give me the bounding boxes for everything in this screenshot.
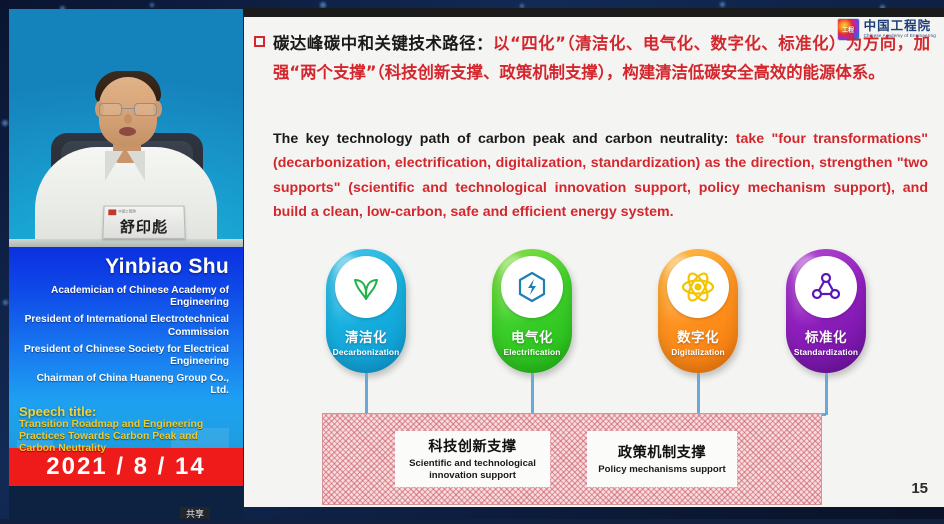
- nameplate-logo-icon: [108, 209, 116, 215]
- desk-nameplate: 中国工程院 舒印彪: [102, 206, 185, 239]
- shirt-collar-right: [127, 151, 145, 181]
- pill-icon-disc: [501, 256, 563, 318]
- speaker-titles: Academician of Chinese Academy of Engine…: [9, 285, 243, 398]
- leaf-icon: [349, 270, 383, 304]
- pill-icon-disc: [335, 256, 397, 318]
- support-label-cn: 政策机制支撑: [618, 442, 706, 462]
- screen: 中国工程院 舒印彪 Yinbiao Shu Academician of Chi…: [0, 0, 944, 524]
- backdrop-speck: [150, 3, 154, 7]
- bolt-hexagon-icon: [515, 270, 549, 304]
- english-paragraph: The key technology path of carbon peak a…: [273, 127, 928, 225]
- network-nodes-icon: [809, 270, 843, 304]
- connector-line-4: [825, 373, 828, 415]
- slide-bullet-block: 碳达峰碳中和关键技术路径：以“四化”（清洁化、电气化、数字化、标准化）为方向，加…: [254, 29, 930, 87]
- support-label-en: Policy mechanisms support: [598, 464, 725, 476]
- english-lead: The key technology path of carbon peak a…: [273, 131, 736, 147]
- pill-label-en: Standardization: [786, 347, 866, 357]
- atom-icon: [680, 269, 716, 305]
- chinese-lead: 碳达峰碳中和关键技术路径：: [273, 34, 493, 53]
- connector-line-2: [531, 373, 534, 415]
- slide-top-bar: [244, 8, 944, 17]
- square-bullet-icon: [254, 36, 265, 47]
- backdrop-speck: [720, 2, 725, 7]
- pill-label-en: Decarbonization: [326, 347, 406, 357]
- pill-icon-disc: [795, 256, 857, 318]
- speaker-title: President of Chinese Society for Electri…: [19, 344, 229, 368]
- connector-line-3: [697, 373, 700, 415]
- speaker-nose: [124, 114, 132, 124]
- pill-label-cn: 标准化: [786, 326, 866, 346]
- connector-line-1: [365, 373, 368, 415]
- shirt-collar-left: [105, 151, 123, 181]
- backdrop-speck: [3, 300, 8, 305]
- pill-label-cn: 电气化: [492, 326, 572, 346]
- speaker-title: Academician of Chinese Academy of Engine…: [19, 285, 229, 309]
- speech-title-label: Speech title:: [9, 404, 243, 419]
- speaker-name: Yinbiao Shu: [9, 255, 243, 279]
- speaker-info-card: Yinbiao Shu Academician of Chinese Acade…: [9, 247, 243, 486]
- slide-page-number: 15: [911, 480, 928, 497]
- pill-electrification[interactable]: 电气化 Electrification: [492, 249, 572, 373]
- desk-edge: [9, 239, 243, 247]
- support-band: 科技创新支撑 Scientific and technological inno…: [322, 413, 822, 505]
- pill-decarbonization[interactable]: 清洁化 Decarbonization: [326, 249, 406, 373]
- pill-label-cn: 清洁化: [326, 326, 406, 346]
- speaker-title: President of International Electrotechni…: [19, 314, 229, 338]
- pill-digitalization[interactable]: 数字化 Digitalization: [658, 249, 738, 373]
- nameplate-name: 舒印彪: [103, 216, 184, 237]
- chinese-paragraph: 碳达峰碳中和关键技术路径：以“四化”（清洁化、电气化、数字化、标准化）为方向，加…: [273, 29, 930, 87]
- pill-label-en: Digitalization: [658, 347, 738, 357]
- speaker-video-feed[interactable]: 中国工程院 舒印彪: [9, 9, 243, 247]
- support-box-innovation[interactable]: 科技创新支撑 Scientific and technological inno…: [395, 431, 550, 487]
- pill-label-cn: 数字化: [658, 326, 738, 346]
- date-text: 2021 / 8 / 14: [46, 453, 205, 481]
- nameplate-org: 中国工程院: [118, 208, 136, 213]
- support-label-cn: 科技创新支撑: [428, 436, 516, 456]
- pill-standardization[interactable]: 标准化 Standardization: [786, 249, 866, 373]
- video-panel[interactable]: 中国工程院 舒印彪 Yinbiao Shu Academician of Chi…: [9, 9, 243, 524]
- presentation-slide[interactable]: 中国工程院 Chinese Academy of Engineering 碳达峰…: [244, 17, 944, 507]
- speaker-mouth: [119, 127, 136, 136]
- pill-label-en: Electrification: [492, 347, 572, 357]
- speaker-title: Chairman of China Huaneng Group Co., Ltd…: [19, 373, 229, 397]
- transformation-pills: 清洁化 Decarbonization 电气化 Electrification: [326, 249, 866, 385]
- support-label-en: Scientific and technological innovation …: [401, 458, 544, 481]
- pill-icon-disc: [667, 256, 729, 318]
- backdrop-speck: [2, 120, 8, 126]
- speech-title-text: Transition Roadmap and Engineering Pract…: [9, 419, 243, 456]
- support-box-policy[interactable]: 政策机制支撑 Policy mechanisms support: [587, 431, 737, 487]
- bottom-strip: [0, 519, 944, 524]
